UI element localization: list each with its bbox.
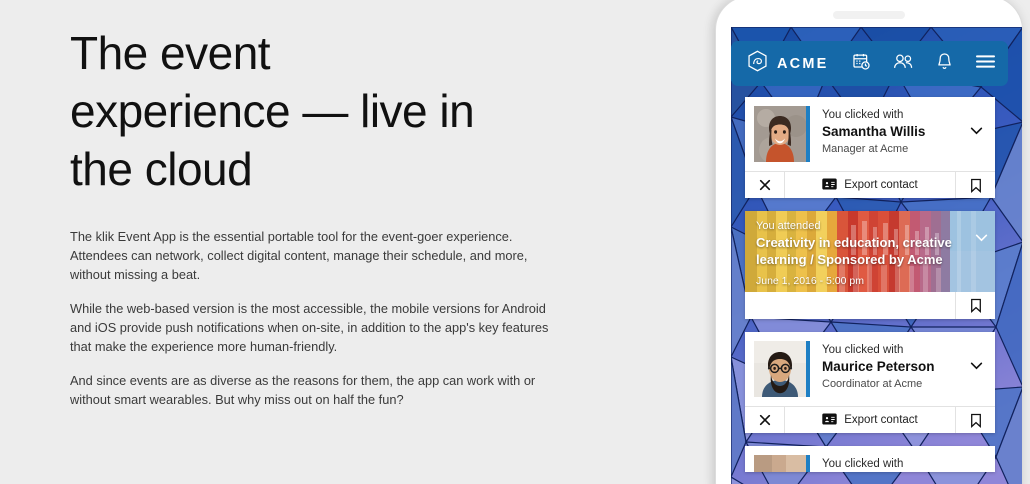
contact-card[interactable]: You clicked with <box>745 446 995 472</box>
dismiss-button[interactable] <box>745 407 785 433</box>
contact-card-icon <box>822 413 837 428</box>
contact-role: Coordinator at Acme <box>822 377 966 392</box>
event-overlay: You attended Creativity in education, cr… <box>745 211 995 319</box>
phone-mockup: ACME <box>715 0 1023 484</box>
hamburger-menu-icon[interactable] <box>975 53 996 75</box>
export-contact-button[interactable]: Export contact <box>785 407 955 433</box>
export-contact-label: Export contact <box>844 414 918 426</box>
contact-card-body: You clicked with Maurice Peterson Coordi… <box>745 332 995 406</box>
bell-icon[interactable] <box>936 52 953 76</box>
page-title: The event experience — live in the cloud <box>70 24 640 198</box>
activity-feed: You clicked with Samantha Willis Manager… <box>745 97 995 484</box>
contact-details: You clicked with Maurice Peterson Coordi… <box>822 341 966 392</box>
contact-kicker: You clicked with <box>822 108 966 123</box>
event-kicker: You attended <box>756 219 969 233</box>
app-header-bar: ACME <box>731 41 1008 86</box>
dismiss-button[interactable] <box>745 172 785 198</box>
article-paragraph: While the web-based version is the most … <box>70 299 557 356</box>
contact-card[interactable]: You clicked with Samantha Willis Manager… <box>745 97 995 198</box>
app-header-actions <box>852 52 996 76</box>
contact-kicker: You clicked with <box>822 343 966 358</box>
brand-name: ACME <box>777 56 829 72</box>
contact-card-body: You clicked with Samantha Willis Manager… <box>745 97 995 171</box>
bookmark-button[interactable] <box>955 172 995 198</box>
acme-hexagon-logo-icon <box>747 50 768 77</box>
bookmark-button[interactable] <box>955 407 995 433</box>
page-root: The event experience — live in the cloud… <box>0 0 1030 484</box>
contact-card-actions: Export contact <box>745 171 995 198</box>
contact-role: Manager at Acme <box>822 142 966 157</box>
article-paragraph: And since events are as diverse as the r… <box>70 371 557 409</box>
expand-chevron-down-icon[interactable] <box>975 229 988 247</box>
contact-card-actions: Export contact <box>745 406 995 433</box>
contact-kicker: You clicked with <box>822 457 986 472</box>
expand-chevron-down-icon[interactable] <box>966 106 986 140</box>
avatar <box>754 455 810 472</box>
contact-details: You clicked with <box>822 455 986 472</box>
contact-card-body: You clicked with <box>745 446 995 472</box>
avatar <box>754 106 810 162</box>
article-paragraph: The klik Event App is the essential port… <box>70 227 557 284</box>
export-contact-label: Export contact <box>844 179 918 191</box>
contact-card-icon <box>822 178 837 193</box>
contact-card[interactable]: You clicked with Maurice Peterson Coordi… <box>745 332 995 433</box>
people-icon[interactable] <box>893 52 914 76</box>
phone-screen: ACME <box>731 27 1023 484</box>
event-card[interactable]: You attended Creativity in education, cr… <box>745 211 995 319</box>
contact-name: Samantha Willis <box>822 123 966 141</box>
contact-details: You clicked with Samantha Willis Manager… <box>822 106 966 157</box>
export-contact-button[interactable]: Export contact <box>785 172 955 198</box>
calendar-clock-icon[interactable] <box>852 52 871 76</box>
article-column: The event experience — live in the cloud… <box>70 24 640 409</box>
event-date: June 1, 2016 - 5:00 pm <box>756 274 969 288</box>
article-body: The klik Event App is the essential port… <box>70 227 640 409</box>
avatar <box>754 341 810 397</box>
expand-chevron-down-icon[interactable] <box>966 341 986 375</box>
contact-name: Maurice Peterson <box>822 358 966 376</box>
phone-speaker <box>833 11 905 19</box>
event-title: Creativity in education, creative learni… <box>756 234 969 268</box>
brand-lockup[interactable]: ACME <box>747 50 829 77</box>
